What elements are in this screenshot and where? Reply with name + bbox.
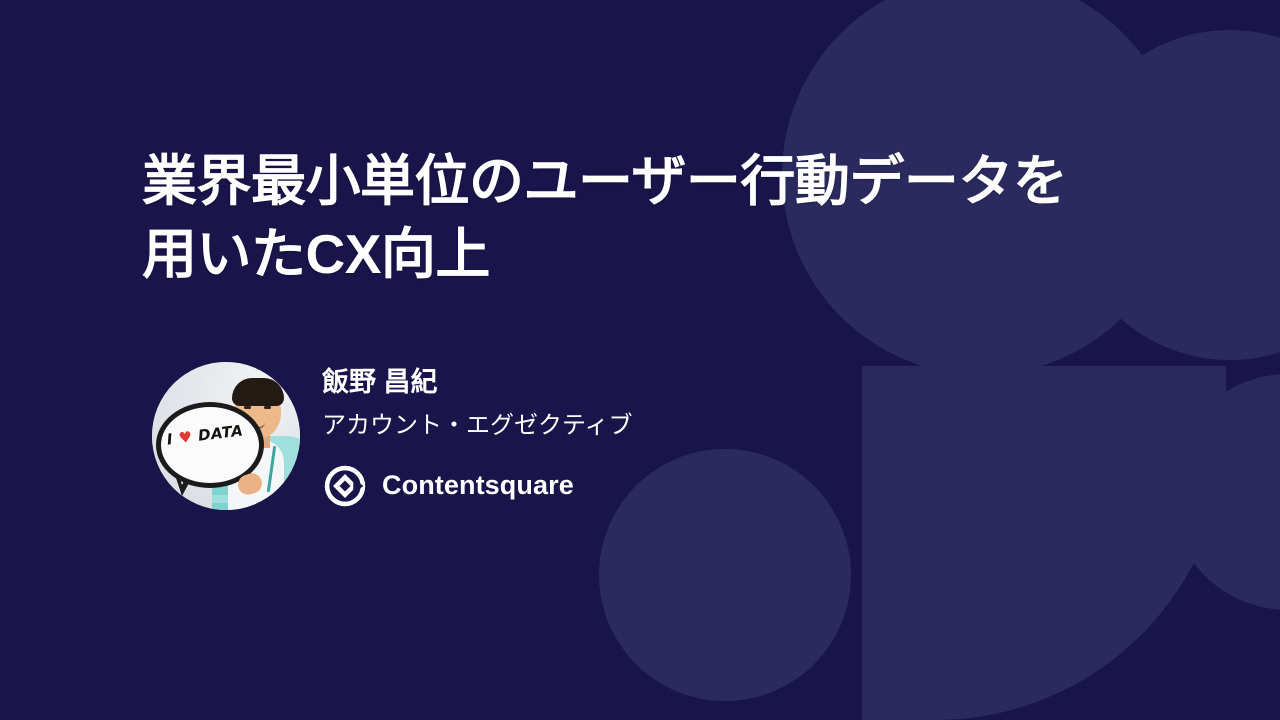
brand-wordmark: Contentsquare bbox=[382, 470, 574, 501]
brand-lockup: Contentsquare bbox=[322, 463, 633, 509]
photo-person-eye-right bbox=[264, 406, 271, 409]
speaker-role: アカウント・エグゼクティブ bbox=[322, 410, 633, 441]
circle-bottom-center-shape bbox=[599, 449, 851, 701]
rounded-rect-bottom-right-shape bbox=[862, 366, 1226, 720]
contentsquare-logo-icon bbox=[322, 463, 368, 509]
title-line-2: 用いたCX向上 bbox=[142, 218, 1142, 291]
speaker-block: I ♥ DATA 飯野 昌紀 アカウント・エグゼクティブ Contentsqua… bbox=[152, 362, 633, 510]
avatar: I ♥ DATA bbox=[152, 362, 300, 510]
background-decoration bbox=[0, 0, 1280, 720]
photo-person-hair bbox=[232, 378, 284, 406]
avatar-photo: I ♥ DATA bbox=[152, 362, 300, 510]
slide-title: 業界最小単位のユーザー行動データを 用いたCX向上 bbox=[142, 145, 1142, 290]
circle-bottom-right-edge-shape bbox=[1170, 374, 1280, 610]
title-line-1: 業界最小単位のユーザー行動データを bbox=[142, 145, 1142, 218]
speaker-details: 飯野 昌紀 アカウント・エグゼクティブ Contentsquare bbox=[322, 362, 633, 509]
photo-person-eye-left bbox=[244, 406, 251, 409]
speaker-name: 飯野 昌紀 bbox=[322, 366, 633, 400]
title-slide: 業界最小単位のユーザー行動データを 用いたCX向上 bbox=[0, 0, 1280, 720]
sign-text-prefix: I bbox=[166, 430, 174, 449]
heart-icon: ♥ bbox=[178, 428, 194, 448]
